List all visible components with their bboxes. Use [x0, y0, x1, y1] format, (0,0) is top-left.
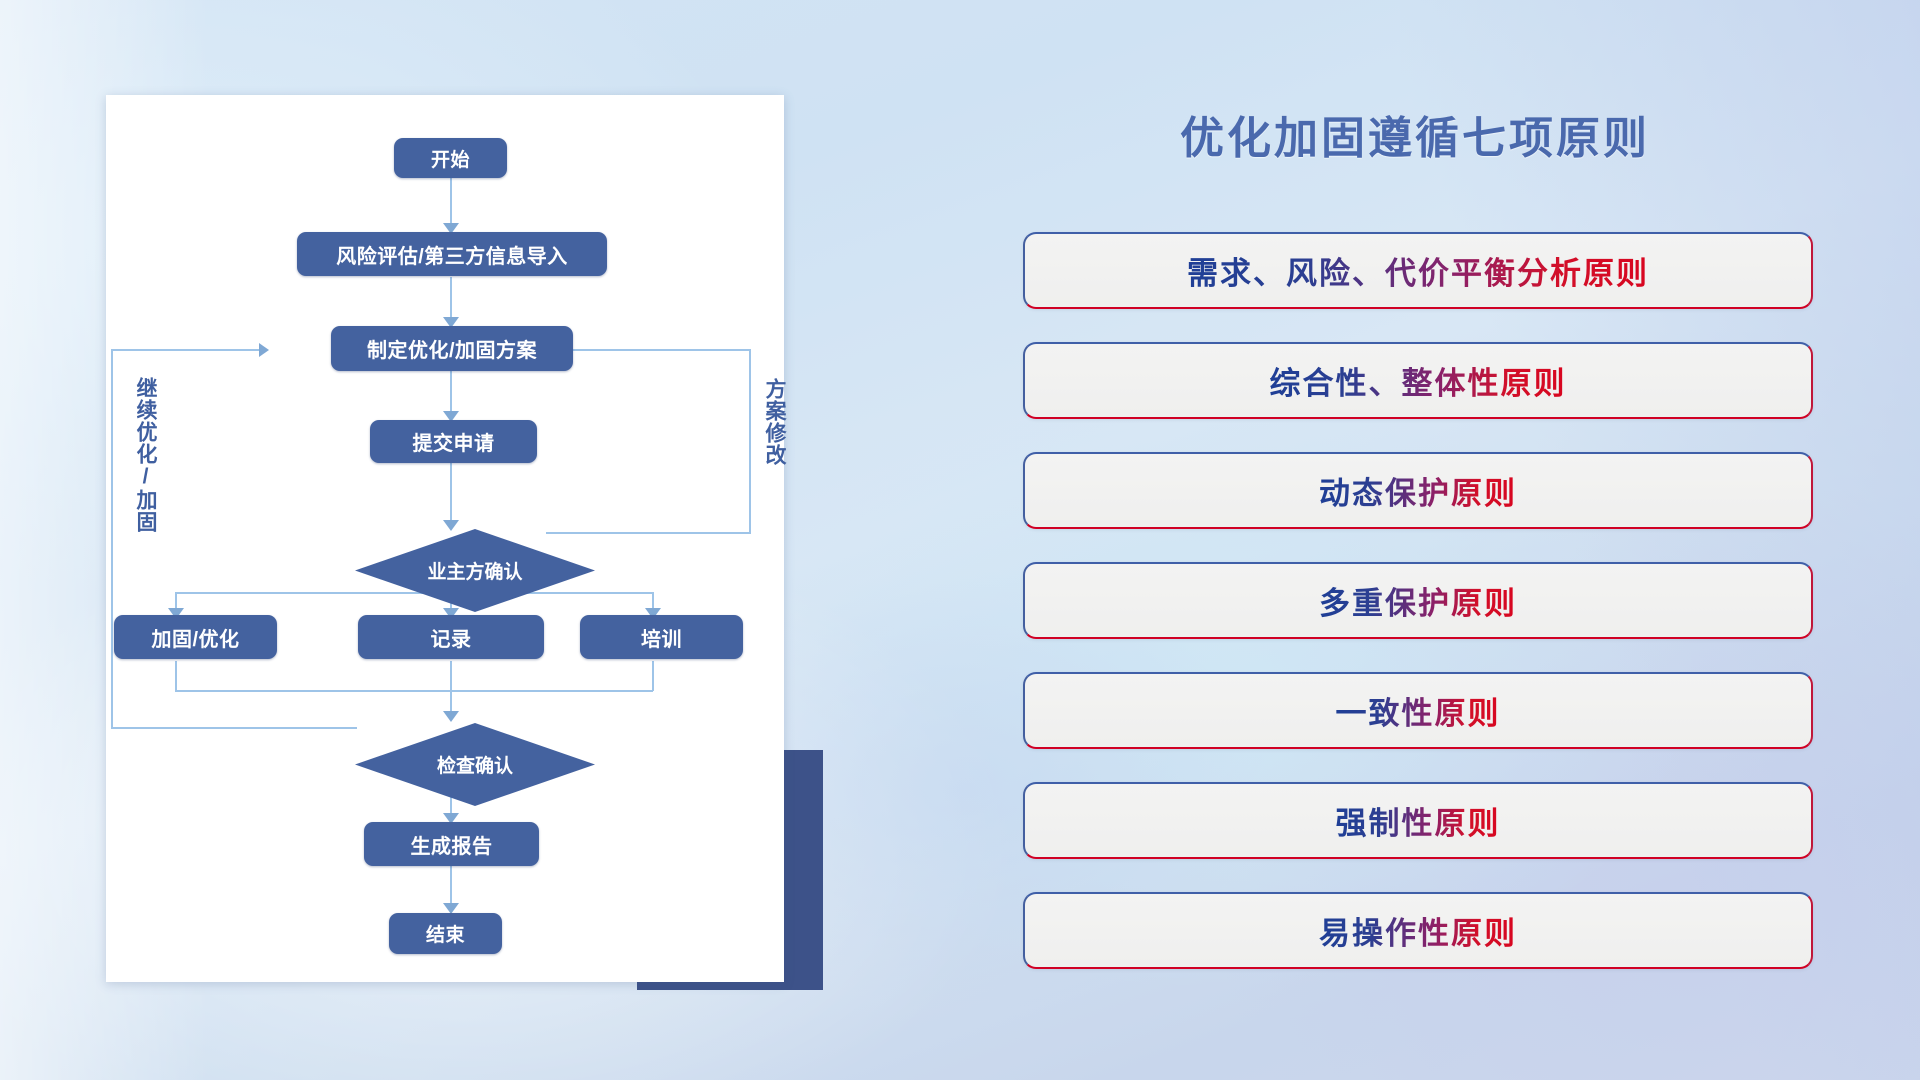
edge-reinforce-down [175, 661, 177, 691]
flowchart-card: 开始 风险评估/第三方信息导入 制定优化/加固方案 提交申请 业主方确认 加固/… [106, 95, 784, 982]
principle-card-list: 需求、风险、代价平衡分析原则 综合性、整体性原则 动态保护原则 多重保护原则 一… [1023, 232, 1813, 1002]
edge-submit-to-confirm-arrow [443, 520, 459, 531]
principle-label: 易操作性原则 [1319, 908, 1517, 953]
edge-record-to-inspect-arrow [443, 711, 459, 722]
principle-card[interactable]: 易操作性原则 [1023, 892, 1813, 969]
edge-confirm-right-branch [546, 532, 751, 534]
flow-node-start[interactable]: 开始 [394, 138, 507, 178]
edge-start-to-risk [450, 177, 452, 229]
principle-label: 需求、风险、代价平衡分析原则 [1187, 248, 1649, 293]
flow-node-generate-report[interactable]: 生成报告 [364, 822, 539, 866]
flow-node-reinforce[interactable]: 加固/优化 [114, 615, 277, 659]
flow-node-inspect-confirm[interactable]: 检查确认 [355, 723, 595, 806]
principle-card[interactable]: 综合性、整体性原则 [1023, 342, 1813, 419]
edge-left-loop-vertical [111, 350, 113, 729]
edge-inspect-left-branch [112, 727, 357, 729]
principle-card[interactable]: 动态保护原则 [1023, 452, 1813, 529]
principle-label: 强制性原则 [1336, 798, 1501, 843]
flow-node-end[interactable]: 结束 [389, 913, 502, 954]
flow-node-make-plan[interactable]: 制定优化/加固方案 [331, 326, 573, 371]
flow-node-submit-application[interactable]: 提交申请 [370, 420, 537, 463]
flow-node-record[interactable]: 记录 [358, 615, 544, 659]
flow-edge-label-left-loop: 继续优化/加固 [134, 377, 156, 533]
edge-left-loop-arrow [259, 343, 269, 357]
flowchart-canvas: 开始 风险评估/第三方信息导入 制定优化/加固方案 提交申请 业主方确认 加固/… [106, 95, 784, 982]
edge-record-to-inspect [450, 661, 452, 718]
flow-edge-label-right-loop: 方案修改 [763, 378, 785, 466]
principle-label: 动态保护原则 [1319, 468, 1517, 513]
edge-left-loop-top [111, 349, 261, 351]
principle-label: 一致性原则 [1336, 688, 1501, 733]
flow-node-risk-assessment[interactable]: 风险评估/第三方信息导入 [297, 232, 607, 276]
principle-label: 综合性、整体性原则 [1270, 358, 1567, 403]
page-title: 优化加固遵循七项原则 [1010, 102, 1820, 166]
edge-branch-bus-top [175, 592, 653, 594]
edge-submit-to-confirm [450, 463, 452, 527]
principle-card[interactable]: 需求、风险、代价平衡分析原则 [1023, 232, 1813, 309]
principle-card[interactable]: 强制性原则 [1023, 782, 1813, 859]
principles-panel: 优化加固遵循七项原则 需求、风险、代价平衡分析原则 综合性、整体性原则 动态保护… [1010, 80, 1820, 1020]
principle-label: 多重保护原则 [1319, 578, 1517, 623]
flow-node-owner-confirm[interactable]: 业主方确认 [355, 529, 595, 612]
principle-card[interactable]: 一致性原则 [1023, 672, 1813, 749]
principle-card[interactable]: 多重保护原则 [1023, 562, 1813, 639]
flow-node-training[interactable]: 培训 [580, 615, 743, 659]
edge-right-loop-vertical [749, 350, 751, 534]
edge-training-down [652, 661, 654, 691]
edge-branch-bus-bottom [175, 690, 653, 692]
